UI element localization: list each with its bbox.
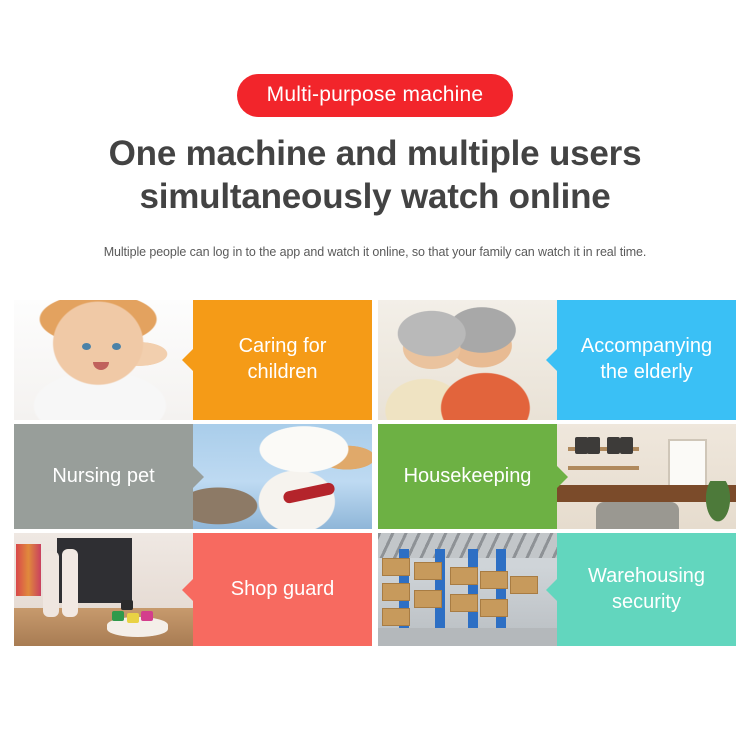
use-case-cell-warehousing-security[interactable]: Warehousing security	[378, 533, 736, 646]
use-case-cell-nursing-pet[interactable]: Nursing pet	[14, 424, 372, 529]
use-case-cell-shop-guard[interactable]: Shop guard	[14, 533, 372, 646]
use-case-panel-shop-guard: Shop guard	[193, 533, 372, 646]
elderly-couple-photo	[378, 300, 557, 420]
use-case-panel-warehousing-security: Warehousing security	[557, 533, 736, 646]
use-case-label: Nursing pet	[44, 464, 162, 490]
use-case-panel-accompanying-the-elderly: Accompanying the elderly	[557, 300, 736, 420]
page-title-line-1: One machine and multiple users	[109, 134, 642, 173]
use-case-label: Accompanying the elderly	[557, 334, 736, 385]
use-case-label: Caring for children	[193, 334, 372, 385]
page-subtitle: Multiple people can log in to the app an…	[55, 244, 695, 260]
use-case-label: Housekeeping	[396, 464, 540, 490]
use-case-row: Nursing pet Housekeeping	[14, 424, 736, 529]
cat-photo	[193, 424, 372, 529]
use-case-label: Shop guard	[223, 577, 342, 603]
use-case-row: Caring for children Accompanying the eld…	[14, 300, 736, 420]
use-case-grid: Caring for children Accompanying the eld…	[14, 300, 736, 646]
use-case-label: Warehousing security	[557, 564, 736, 615]
use-case-panel-nursing-pet: Nursing pet	[14, 424, 193, 529]
use-case-panel-housekeeping: Housekeeping	[378, 424, 557, 529]
use-case-row: Shop guard	[14, 533, 736, 646]
badge-multi-purpose-machine: Multi-purpose machine	[237, 74, 514, 117]
page-header: Multi-purpose machine One machine and mu…	[0, 0, 750, 261]
use-case-cell-caring-for-children[interactable]: Caring for children	[14, 300, 372, 420]
promo-page: Multi-purpose machine One machine and mu…	[0, 0, 750, 750]
page-title: One machine and multiple users simultane…	[45, 133, 705, 218]
warehouse-photo	[378, 533, 557, 646]
use-case-panel-caring-for-children: Caring for children	[193, 300, 372, 420]
kitchen-photo	[557, 424, 736, 529]
shop-photo	[14, 533, 193, 646]
page-title-line-2: simultaneously watch online	[45, 176, 705, 219]
use-case-cell-housekeeping[interactable]: Housekeeping	[378, 424, 736, 529]
use-case-cell-accompanying-the-elderly[interactable]: Accompanying the elderly	[378, 300, 736, 420]
baby-photo	[14, 300, 193, 420]
